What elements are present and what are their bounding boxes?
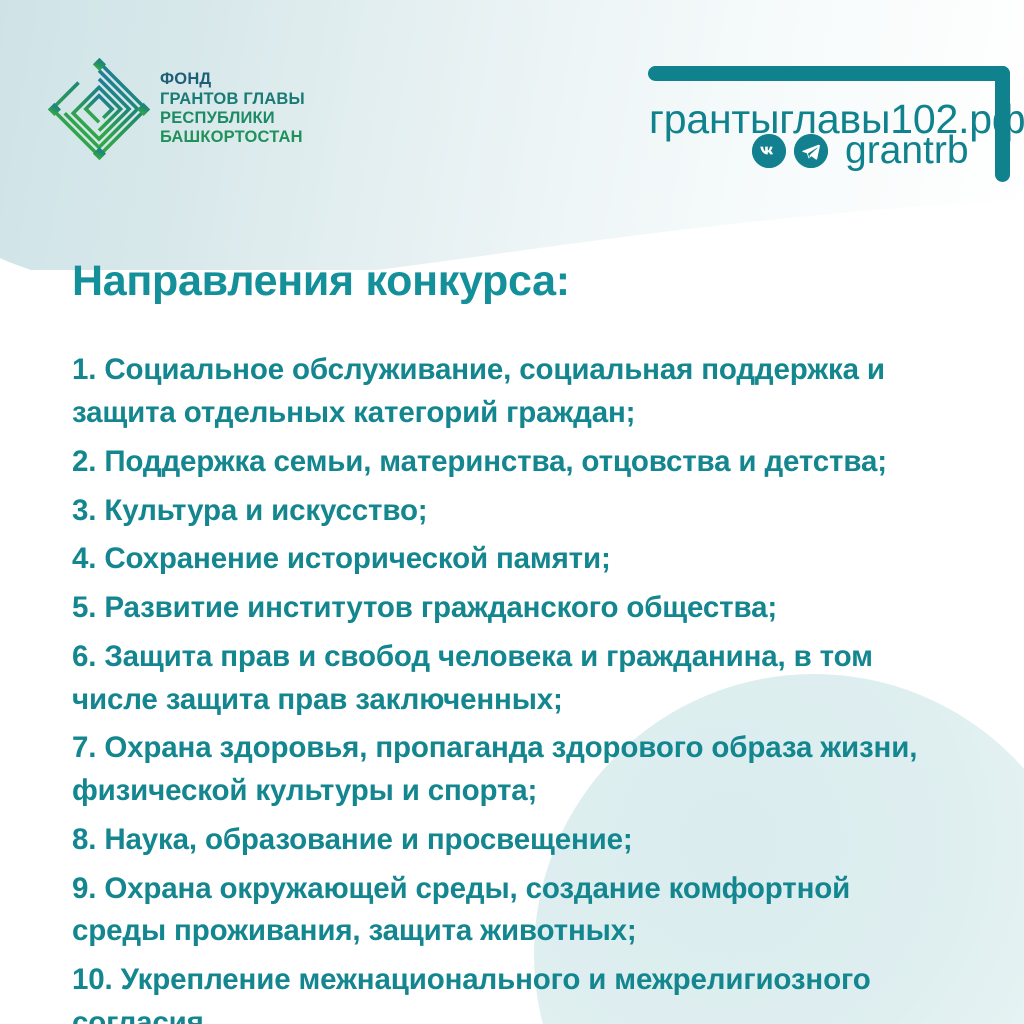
list-item: 5. Развитие институтов гражданского обще… [72,587,942,630]
list-item: 1. Социальное обслуживание, социальная п… [72,349,942,435]
brand-name-line-4: БАШКОРТОСТАН [160,128,305,147]
directions-list: 1. Социальное обслуживание, социальная п… [72,349,952,1024]
page-title: Направления конкурса: [72,258,952,305]
labyrinth-diamond-logo-icon [48,58,150,160]
list-item: 3. Культура и искусство; [72,490,942,533]
list-item: 2. Поддержка семьи, материнства, отцовст… [72,441,942,484]
brand-name-line-3: РЕСПУБЛИКИ [160,109,305,128]
list-item: 7. Охрана здоровья, пропаганда здорового… [72,727,942,813]
list-item: 6. Защита прав и свобод человека и гражд… [72,636,942,722]
brand-name-text: ФОНД ГРАНТОВ ГЛАВЫ РЕСПУБЛИКИ БАШКОРТОСТ… [160,70,305,147]
bracket-horizontal-bar [648,66,1010,81]
brand-name-line-1: ФОНД [160,70,305,89]
header: ФОНД ГРАНТОВ ГЛАВЫ РЕСПУБЛИКИ БАШКОРТОСТ… [0,0,1024,200]
telegram-icon[interactable] [794,134,828,168]
list-item: 8. Наука, образование и просвещение; [72,819,942,862]
poster-canvas: ФОНД ГРАНТОВ ГЛАВЫ РЕСПУБЛИКИ БАШКОРТОСТ… [0,0,1024,1024]
list-item: 4. Сохранение исторической памяти; [72,538,942,581]
social-handle-text[interactable]: grantrb [845,134,969,168]
main-content: Направления конкурса: 1. Социальное обсл… [72,258,952,1024]
social-links: grantrb [752,134,969,168]
list-item: 9. Охрана окружающей среды, создание ком… [72,868,942,954]
brand-logo: ФОНД ГРАНТОВ ГЛАВЫ РЕСПУБЛИКИ БАШКОРТОСТ… [48,58,305,160]
list-item: 10. Укрепление межнационального и межрел… [72,959,942,1024]
brand-name-line-2: ГРАНТОВ ГЛАВЫ [160,90,305,109]
vk-icon[interactable] [752,134,786,168]
